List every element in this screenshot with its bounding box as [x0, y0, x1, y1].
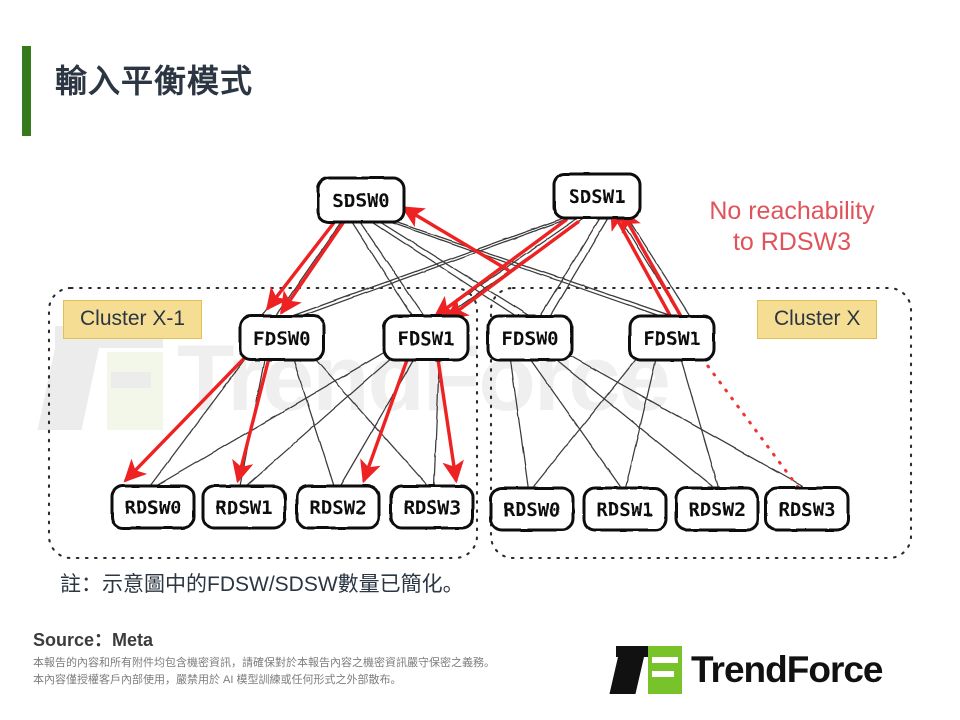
disclaimer-line-1: 本報告的內容和所有附件均包含機密資訊，請確保對於本報告內容之機密資訊嚴守保密之義… [33, 655, 495, 672]
node-label-rdsw1-right: RDSW1 [596, 499, 653, 521]
trendforce-logo: TrendForce [616, 646, 883, 694]
slide-canvas: 輸入平衡模式 TrendForce [0, 0, 960, 720]
node-label-sdsw0: SDSW0 [332, 190, 389, 212]
node-label-rdsw0-right: RDSW0 [503, 499, 560, 521]
node-label-rdsw1-left: RDSW1 [215, 497, 272, 519]
node-label-fdsw0-right: FDSW0 [501, 328, 558, 350]
diagram-note: 註：示意圖中的FDSW/SDSW數量已簡化。 [60, 568, 464, 598]
title-accent-bar [22, 46, 31, 136]
node-label-fdsw1-right: FDSW1 [643, 328, 700, 350]
disclaimer: 本報告的內容和所有附件均包含機密資訊，請確保對於本報告內容之機密資訊嚴守保密之義… [33, 655, 495, 689]
node-label-rdsw2-left: RDSW2 [309, 497, 366, 519]
node-label-fdsw1-left: FDSW1 [397, 328, 454, 350]
node-label-rdsw2-right: RDSW2 [688, 499, 745, 521]
disclaimer-line-2: 本內容僅授權客戶內部使用，嚴禁用於 AI 模型訓練或任何形式之外部散布。 [33, 672, 495, 689]
annotation-no-reachability: No reachability to RDSW3 [672, 196, 912, 259]
page-title: 輸入平衡模式 [55, 62, 253, 100]
source-label: Source：Meta [33, 626, 153, 652]
node-label-rdsw3-left: RDSW3 [403, 497, 460, 519]
cluster-chip-x: Cluster X [757, 300, 877, 339]
node-label-fdsw0-left: FDSW0 [253, 328, 310, 350]
node-label-rdsw3-right: RDSW3 [778, 499, 835, 521]
cluster-chip-x-minus-1: Cluster X-1 [63, 300, 202, 339]
annotation-line-2: to RDSW3 [672, 227, 912, 258]
annotation-line-1: No reachability [672, 196, 912, 227]
trendforce-logo-text: TrendForce [691, 649, 883, 691]
trendforce-logo-icon [616, 646, 682, 694]
node-label-sdsw1: SDSW1 [568, 186, 625, 208]
node-label-rdsw0-left: RDSW0 [124, 497, 181, 519]
